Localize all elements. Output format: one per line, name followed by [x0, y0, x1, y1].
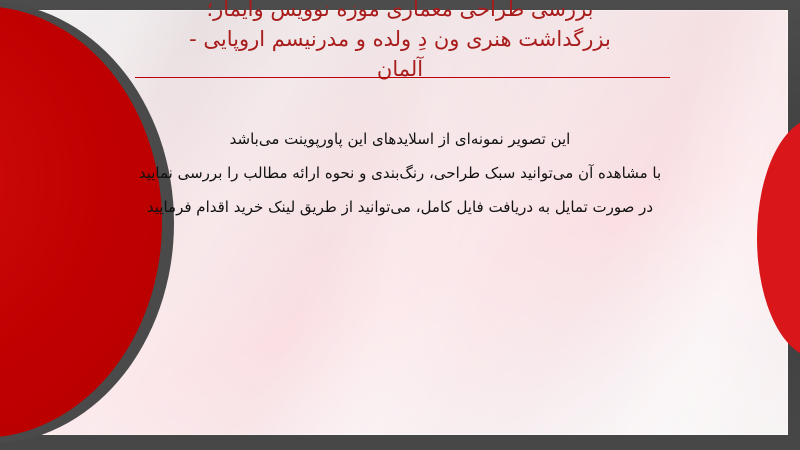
title-line-1: بررسی طراحی معماری موزه نوویس وایمار؛ [120, 0, 680, 24]
presentation-slide: بررسی طراحی معماری موزه نوویس وایمار؛ بز… [0, 0, 800, 450]
title-line-2: بزرگداشت هنری ون دِ ولده و مدرنیسم اروپا… [120, 24, 680, 54]
body-line-3: در صورت تمایل به دریافت فایل کامل، می‌تو… [120, 190, 680, 224]
title-divider-rule [135, 77, 670, 78]
body-line-1: این تصویر نمونه‌ای از اسلایدهای این پاور… [120, 122, 680, 156]
slide-body-text: این تصویر نمونه‌ای از اسلایدهای این پاور… [120, 122, 680, 224]
slide-title: بررسی طراحی معماری موزه نوویس وایمار؛ بز… [120, 0, 680, 84]
title-line-3: آلمان [120, 54, 680, 84]
body-line-2: با مشاهده آن می‌توانید سبک طراحی، رنگ‌بن… [120, 156, 680, 190]
